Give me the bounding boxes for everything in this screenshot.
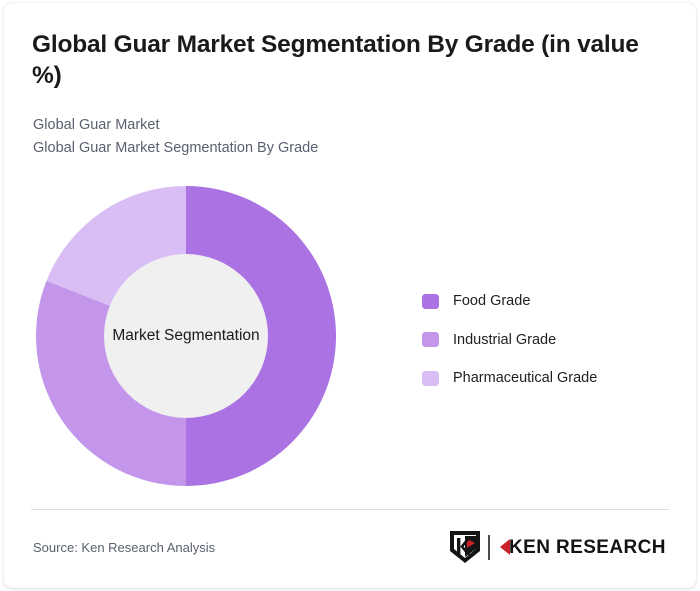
legend-swatch-icon <box>422 294 439 309</box>
legend-item-industrial-grade[interactable]: Industrial Grade <box>422 321 672 360</box>
donut-chart: Market Segmentation <box>28 178 348 498</box>
chart-card-inner: Global Guar Market Segmentation By Grade… <box>4 3 696 588</box>
page-title: Global Guar Market Segmentation By Grade… <box>32 29 662 92</box>
chart-card: Global Guar Market Segmentation By Grade… <box>4 3 696 588</box>
footer-divider <box>31 509 669 510</box>
ken-research-shield-icon <box>448 529 482 565</box>
subtitle-line-market: Global Guar Market <box>33 114 633 137</box>
donut-center-label: Market Segmentation <box>112 327 259 344</box>
donut-chart-svg: Market Segmentation <box>28 178 348 498</box>
ken-research-logo: KEN RESEARCH <box>448 527 674 567</box>
legend-label: Pharmaceutical Grade <box>453 370 597 386</box>
subtitle-line-segmentation: Global Guar Market Segmentation By Grade <box>33 137 633 160</box>
legend-item-pharmaceutical-grade[interactable]: Pharmaceutical Grade <box>422 359 672 398</box>
legend-label: Food Grade <box>453 293 530 309</box>
legend-item-food-grade[interactable]: Food Grade <box>422 282 672 321</box>
logo-wordmark-text: KEN RESEARCH <box>509 537 666 558</box>
logo-divider <box>488 535 490 560</box>
subtitle-block: Global Guar Market Global Guar Market Se… <box>33 114 633 161</box>
legend-swatch-icon <box>422 371 439 386</box>
legend-swatch-icon <box>422 332 439 347</box>
ken-research-wordmark: KEN RESEARCH <box>498 535 674 559</box>
legend-label: Industrial Grade <box>453 332 556 348</box>
source-note: Source: Ken Research Analysis <box>33 540 215 555</box>
chart-legend: Food Grade Industrial Grade Pharmaceutic… <box>422 282 672 398</box>
